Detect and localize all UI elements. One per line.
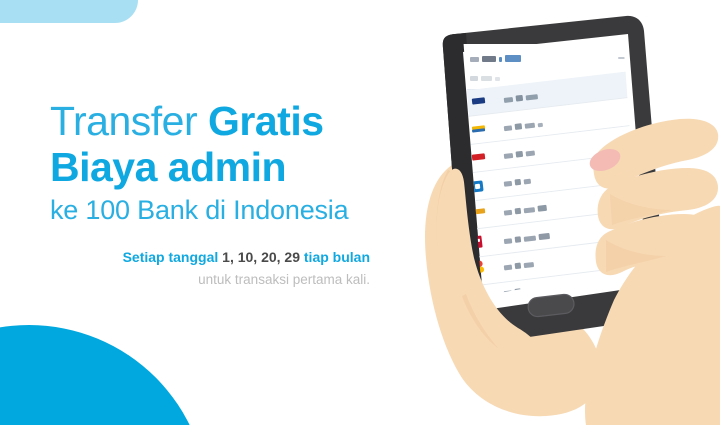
headline-gratis-text: Gratis	[208, 98, 324, 144]
subcopy-block: Setiap tanggal 1, 10, 20, 29 tiap bulan …	[50, 248, 370, 289]
bottom-left-accent-circle	[0, 325, 208, 425]
promo-disclaimer: untuk transaksi pertama kali.	[50, 271, 370, 289]
promo-suffix: tiap bulan	[300, 249, 370, 265]
promo-prefix: Setiap tanggal	[123, 249, 223, 265]
right-hand	[585, 119, 720, 425]
hands-holding-smartphone-illustration	[400, 0, 720, 425]
promo-dates: 1, 10, 20, 29	[222, 249, 300, 265]
promo-period-text: Setiap tanggal 1, 10, 20, 29 tiap bulan	[50, 248, 370, 267]
headline-line-1: Transfer Gratis	[50, 98, 380, 144]
promo-banner: Transfer Gratis Biaya admin ke 100 Bank …	[0, 0, 720, 425]
headline-line-2: Biaya admin	[50, 144, 380, 190]
headline-block: Transfer Gratis Biaya admin ke 100 Bank …	[50, 98, 380, 227]
top-left-accent-bar	[0, 0, 138, 23]
headline-transfer-text: Transfer	[50, 98, 208, 144]
headline-line-3: ke 100 Bank di Indonesia	[50, 194, 380, 227]
screen-overflow-icon[interactable]	[618, 57, 625, 59]
